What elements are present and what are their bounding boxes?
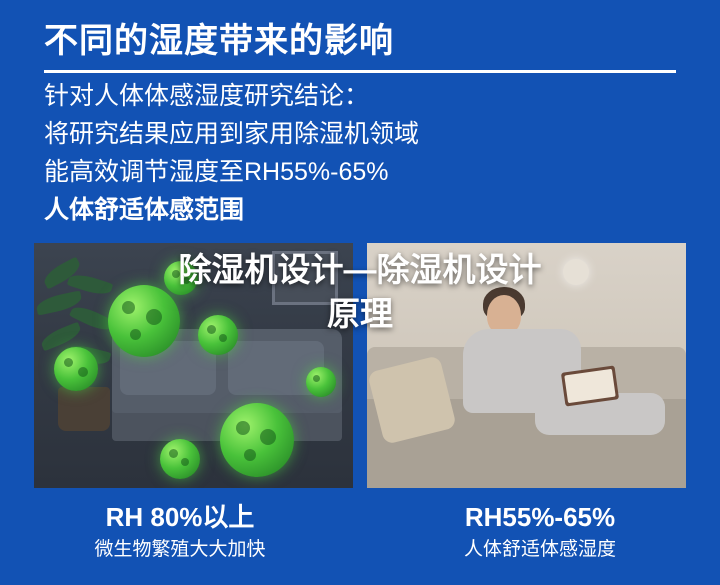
photo-woman-reading-on-sofa — [367, 243, 686, 488]
conclusion-line-1: 针对人体体感湿度研究结论： — [44, 80, 684, 113]
poster-root: 不同的湿度带来的影响 针对人体体感湿度研究结论： 将研究结果应用到家用除湿机领域… — [0, 0, 720, 585]
microbe-icon — [198, 315, 238, 355]
microbe-icon — [306, 367, 336, 397]
photo-row — [34, 243, 686, 488]
microbe-icon — [220, 403, 294, 477]
wall-lamp-decor — [563, 259, 589, 285]
page-title: 不同的湿度带来的影响 — [44, 18, 674, 64]
title-divider — [44, 70, 676, 73]
conclusion-line-4: 人体舒适体感范围 — [44, 194, 684, 227]
caption-right-main: RH55%-65% — [360, 500, 720, 534]
caption-right-sub: 人体舒适体感湿度 — [360, 536, 720, 564]
microbe-icon — [164, 261, 198, 295]
caption-left-main: RH 80%以上 — [0, 500, 360, 534]
caption-row: RH 80%以上 微生物繁殖大大加快 RH55%-65% 人体舒适体感湿度 — [0, 500, 720, 564]
conclusion-line-2: 将研究结果应用到家用除湿机领域 — [44, 118, 684, 151]
caption-left: RH 80%以上 微生物繁殖大大加快 — [0, 500, 360, 564]
photo-dark-room-with-microbes — [34, 243, 353, 488]
caption-right: RH55%-65% 人体舒适体感湿度 — [360, 500, 720, 564]
caption-left-sub: 微生物繁殖大大加快 — [0, 536, 360, 564]
wall-frame-decor — [272, 251, 338, 305]
plant-pot — [58, 387, 110, 431]
microbe-icon — [108, 285, 180, 357]
microbe-icon — [54, 347, 98, 391]
header: 不同的湿度带来的影响 — [44, 18, 674, 73]
conclusion-text-block: 针对人体体感湿度研究结论： 将研究结果应用到家用除湿机领域 能高效调节湿度至RH… — [44, 80, 684, 232]
conclusion-line-3: 能高效调节湿度至RH55%-65% — [44, 156, 684, 189]
microbe-icon — [160, 439, 200, 479]
